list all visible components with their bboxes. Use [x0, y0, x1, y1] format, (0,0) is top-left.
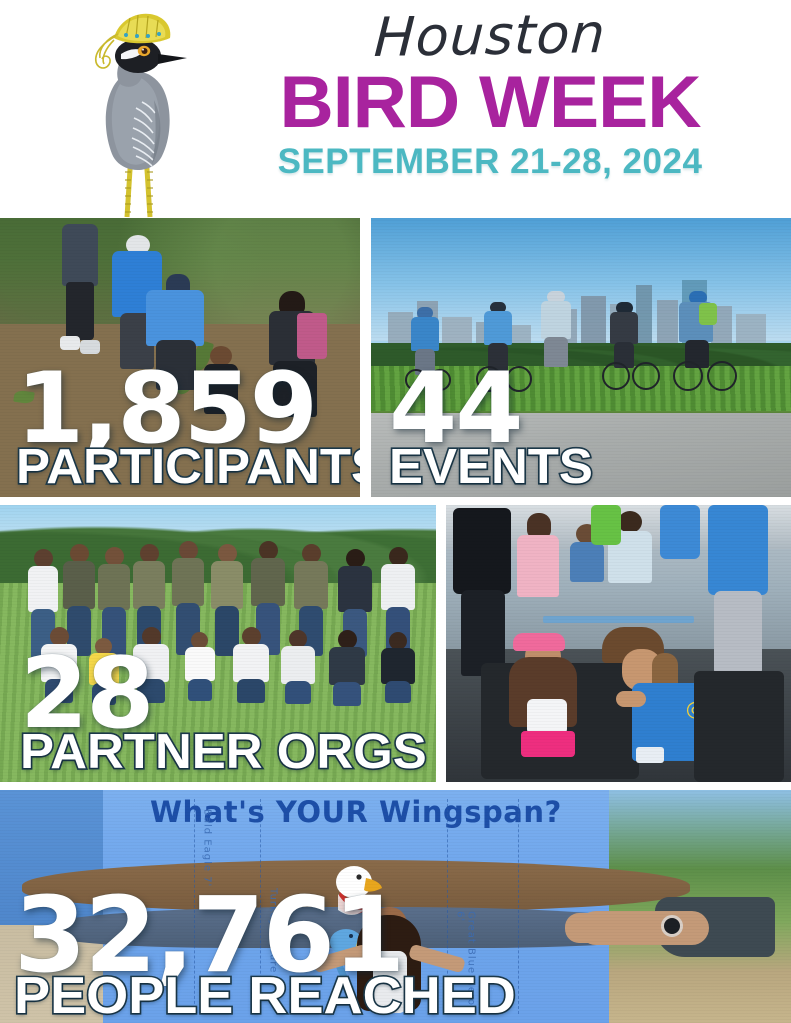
photo-panel-face-painting: ◎	[446, 505, 791, 782]
stats-photo-grid: 1,859 PARTICIPANTS	[0, 218, 791, 1023]
title-block: Houston BIRD WEEK SEPTEMBER 21-28, 2024	[255, 4, 725, 214]
stat-panel-people-reached: What's YOUR Wingspan?	[0, 790, 791, 1023]
stat-label-people-reached: PEOPLE REACHED	[14, 972, 516, 1021]
stat-panel-participants: 1,859 PARTICIPANTS	[0, 218, 360, 497]
script-title: Houston	[253, 4, 726, 69]
stat-participants: 1,859 PARTICIPANTS	[16, 364, 360, 491]
poster-header: Houston BIRD WEEK SEPTEMBER 21-28, 2024	[0, 0, 791, 218]
stat-label-participants: PARTICIPANTS	[16, 444, 360, 491]
date-line: SEPTEMBER 21-28, 2024	[255, 144, 725, 181]
main-title: BIRD WEEK	[248, 67, 732, 139]
stat-panel-events: 44 EVENTS	[371, 218, 791, 497]
banner-title: What's YOUR Wingspan?	[103, 795, 609, 829]
stat-people-reached: 32,761 PEOPLE REACHED	[14, 888, 497, 1021]
stat-events: 44 EVENTS	[389, 364, 585, 491]
adult-arm-reaching	[565, 897, 775, 963]
heron-logo-icon	[74, 4, 190, 218]
stat-partner-orgs: 28 PARTNER ORGS	[20, 649, 411, 776]
stat-panel-partner-orgs: 28 PARTNER ORGS	[0, 505, 436, 782]
stat-label-events: EVENTS	[389, 444, 593, 491]
photo-face-painting: ◎	[446, 505, 791, 782]
infographic-poster: Houston BIRD WEEK SEPTEMBER 21-28, 2024	[0, 0, 791, 1023]
stat-label-partner-orgs: PARTNER ORGS	[20, 729, 427, 776]
